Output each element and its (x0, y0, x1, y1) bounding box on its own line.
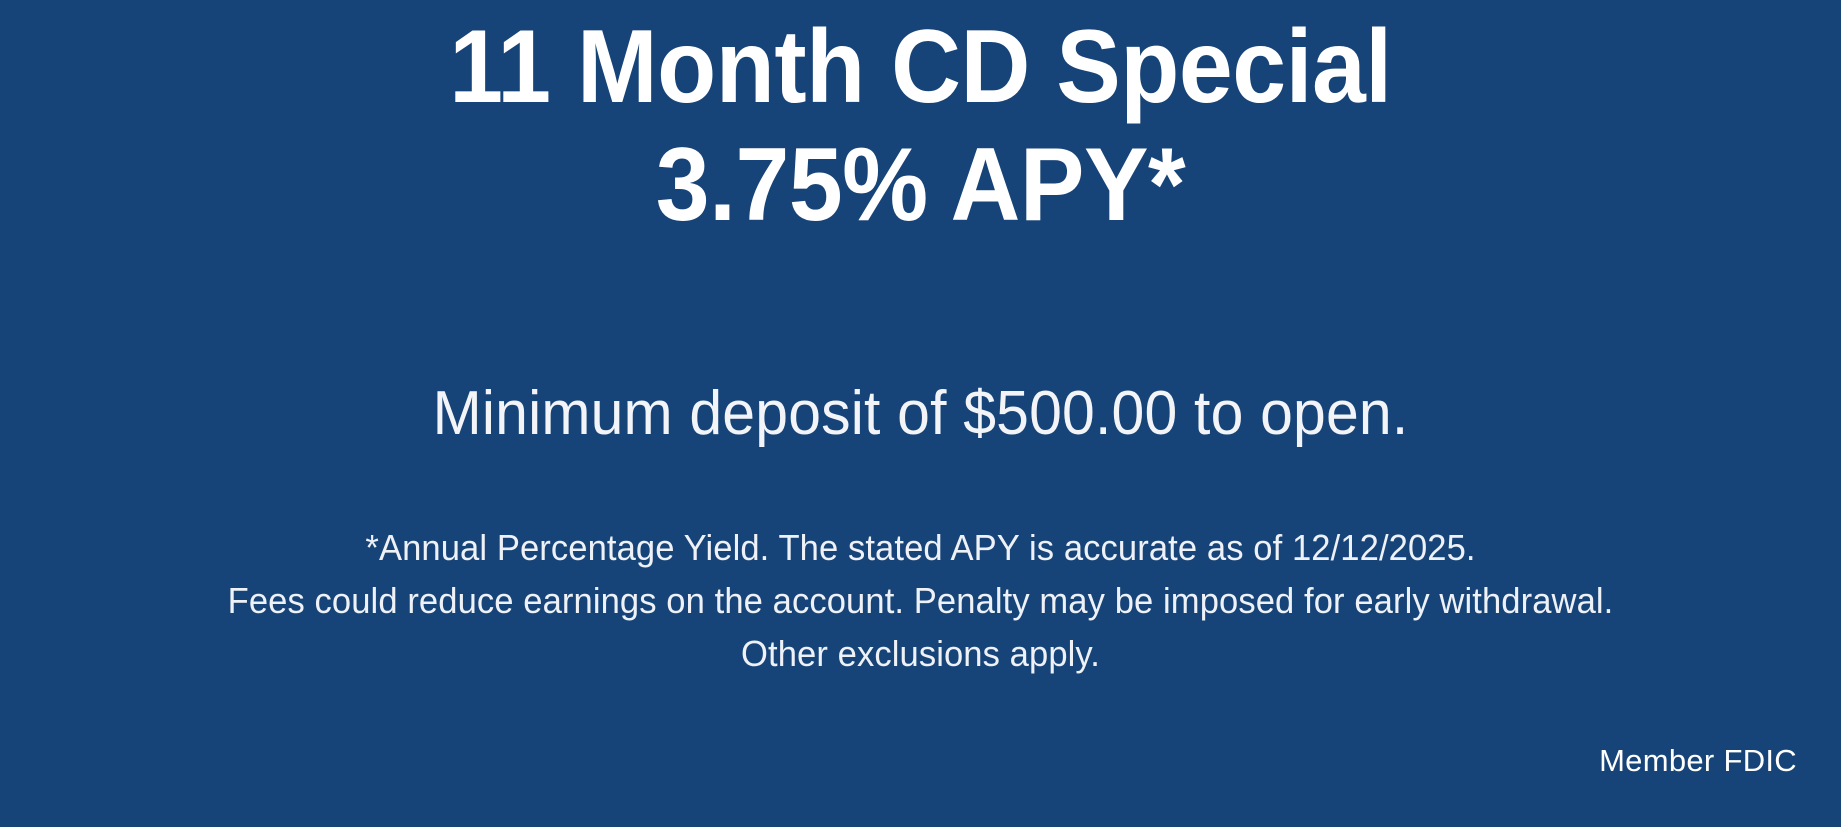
headline-line-product: 11 Month CD Special (64, 8, 1776, 126)
cd-special-promo-banner: 11 Month CD Special 3.75% APY* Minimum d… (0, 0, 1841, 827)
member-fdic-notice: Member FDIC (1599, 743, 1797, 779)
disclaimer-line-apy-definition: *Annual Percentage Yield. The stated APY… (37, 521, 1804, 574)
disclaimer-line-exclusions: Other exclusions apply. (37, 627, 1804, 680)
promo-headline: 11 Month CD Special 3.75% APY* (64, 8, 1776, 244)
minimum-deposit-text: Minimum deposit of $500.00 to open. (46, 378, 1795, 450)
headline-line-apy: 3.75% APY* (64, 126, 1776, 244)
disclaimer-line-fees-penalty: Fees could reduce earnings on the accoun… (37, 574, 1804, 627)
disclaimer-block: *Annual Percentage Yield. The stated APY… (37, 521, 1804, 680)
